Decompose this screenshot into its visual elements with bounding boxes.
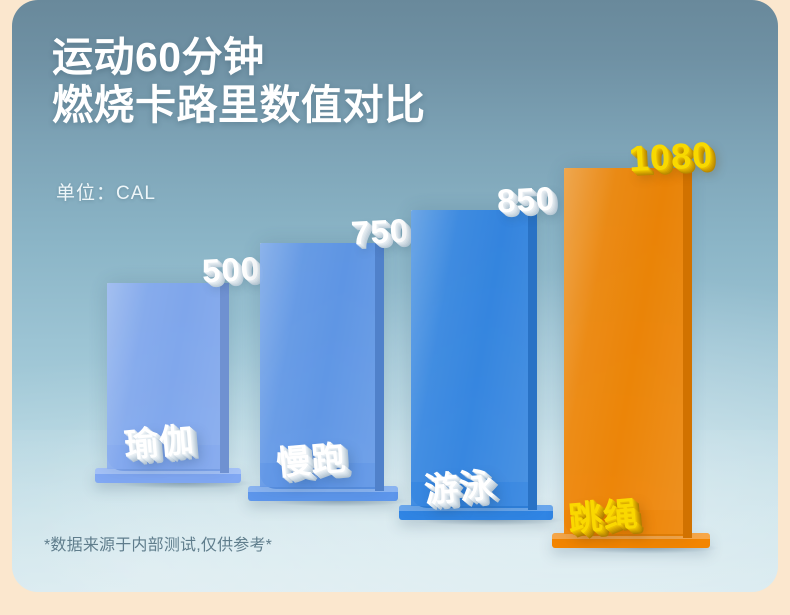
- title-line-1: 运动60分钟: [52, 34, 265, 80]
- bar-sheen: [564, 168, 688, 534]
- page-title: 运动60分钟 燃烧卡路里数值对比: [52, 34, 612, 129]
- bar-group-jogging[interactable]: [260, 243, 380, 501]
- bar-right-edge: [683, 168, 692, 538]
- bar-face: [107, 283, 225, 469]
- bar-group-swimming[interactable]: [411, 210, 533, 520]
- footnote-text: *数据来源于内部测试,仅供参考*: [44, 531, 272, 555]
- bar-face: [564, 168, 688, 534]
- bar-sheen: [107, 283, 225, 469]
- unit-label: 单位：CAL: [56, 178, 156, 205]
- bar-right-edge: [220, 283, 229, 473]
- bar-right-edge: [528, 210, 537, 510]
- bar-face: [411, 210, 533, 506]
- chart-panel: 运动60分钟 燃烧卡路里数值对比 单位：CAL 500 瑜伽: [12, 0, 778, 592]
- bar-right-edge: [375, 243, 384, 491]
- title-line-2: 燃烧卡路里数值对比: [52, 82, 612, 130]
- bar-group-yoga[interactable]: [107, 283, 225, 483]
- bar-sheen: [411, 210, 533, 506]
- bar-face: [260, 243, 380, 487]
- bar-sheen: [260, 243, 380, 487]
- infographic-canvas: 运动60分钟 燃烧卡路里数值对比 单位：CAL 500 瑜伽: [0, 0, 790, 615]
- bar-group-jumprope[interactable]: [564, 168, 688, 548]
